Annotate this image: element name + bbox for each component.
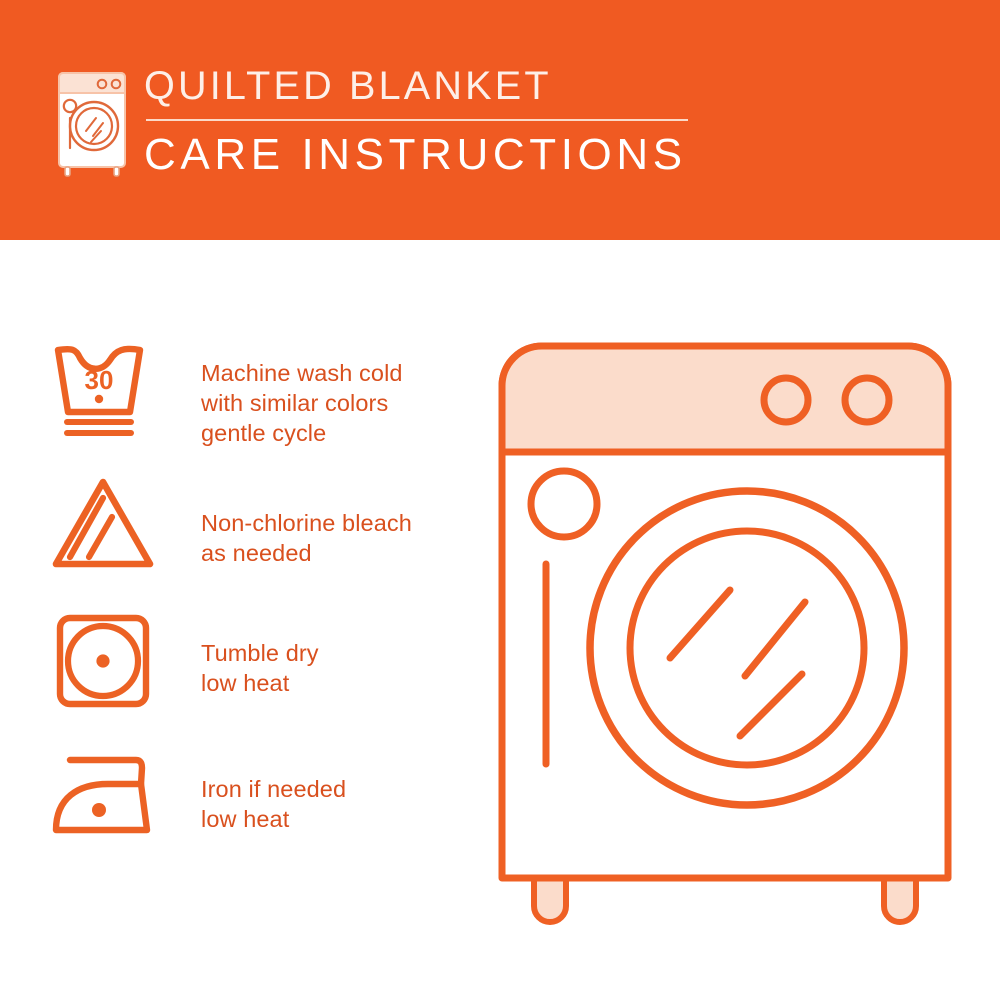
non-chlorine-bleach-triangle-icon [46, 472, 166, 582]
care-label-line: low heat [201, 668, 319, 698]
care-label-line: Tumble dry [201, 638, 319, 668]
tumble-dry-low-heat-icon [46, 608, 166, 718]
front-load-washing-machine-illustration [492, 336, 962, 926]
care-row-bleach: Non-chlorine bleach as needed [46, 472, 506, 608]
care-row-iron: Iron if needed low heat [46, 744, 506, 880]
care-label-line: as needed [201, 538, 412, 568]
title-divider [146, 119, 688, 121]
knob-right [845, 378, 889, 422]
header-titles: QUILTED BLANKET CARE INSTRUCTIONS [144, 62, 764, 181]
page-title-secondary: CARE INSTRUCTIONS [144, 129, 764, 181]
washing-machine-icon [44, 68, 140, 180]
care-label-line: low heat [201, 804, 346, 834]
wash-tub-30-gentle-icon: 30 [46, 336, 166, 446]
care-instruction-list: 30 Machine wash cold with similar colors… [46, 336, 506, 880]
care-instructions-page: QUILTED BLANKET CARE INSTRUCTIONS 30 [0, 0, 1000, 1000]
care-label-line: Iron if needed [201, 774, 346, 804]
care-label-machine-wash: Machine wash cold with similar colors ge… [166, 336, 403, 448]
iron-low-heat-icon [46, 744, 166, 854]
care-label-bleach: Non-chlorine bleach as needed [166, 472, 412, 568]
care-label-line: with similar colors [201, 388, 403, 418]
page-title-primary: QUILTED BLANKET [144, 62, 758, 110]
care-label-tumble-dry: Tumble dry low heat [166, 608, 319, 698]
care-label-line: gentle cycle [201, 418, 403, 448]
care-row-tumble-dry: Tumble dry low heat [46, 608, 506, 744]
care-label-iron: Iron if needed low heat [166, 744, 346, 834]
care-label-line: Non-chlorine bleach [201, 508, 412, 538]
svg-text:30: 30 [85, 365, 114, 395]
care-row-machine-wash: 30 Machine wash cold with similar colors… [46, 336, 506, 472]
care-label-line: Machine wash cold [201, 358, 403, 388]
knob-left [764, 378, 808, 422]
header-band: QUILTED BLANKET CARE INSTRUCTIONS [0, 0, 1000, 240]
